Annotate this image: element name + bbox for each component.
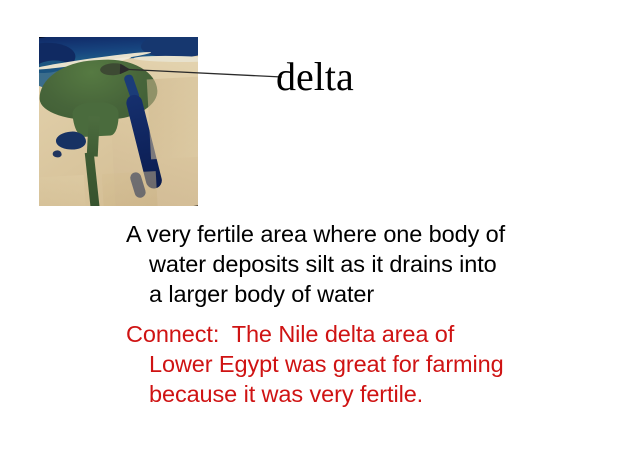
definition-text-block: A very fertile area where one body of wa… (126, 219, 596, 309)
eastern-desert-shading (102, 171, 159, 206)
presentation-slide: delta A very fertile area where one body… (0, 0, 627, 470)
delta-callout-label: delta (276, 57, 354, 97)
connection-line-3: because it was very fertile. (126, 379, 596, 409)
nile-river-valley (87, 116, 100, 157)
definition-line-2: water deposits silt as it drains into (126, 249, 596, 279)
definition-line-3: a larger body of water (126, 279, 596, 309)
connection-line-1: Connect: The Nile delta area of (126, 319, 596, 349)
definition-line-1: A very fertile area where one body of (126, 219, 596, 249)
connection-text-block: Connect: The Nile delta area of Lower Eg… (126, 319, 596, 409)
western-desert-shading (39, 175, 87, 206)
faiyum-lake-small (52, 150, 61, 157)
callout-arrow-to-delta (110, 58, 285, 92)
connection-line-2: Lower Egypt was great for farming (126, 349, 596, 379)
